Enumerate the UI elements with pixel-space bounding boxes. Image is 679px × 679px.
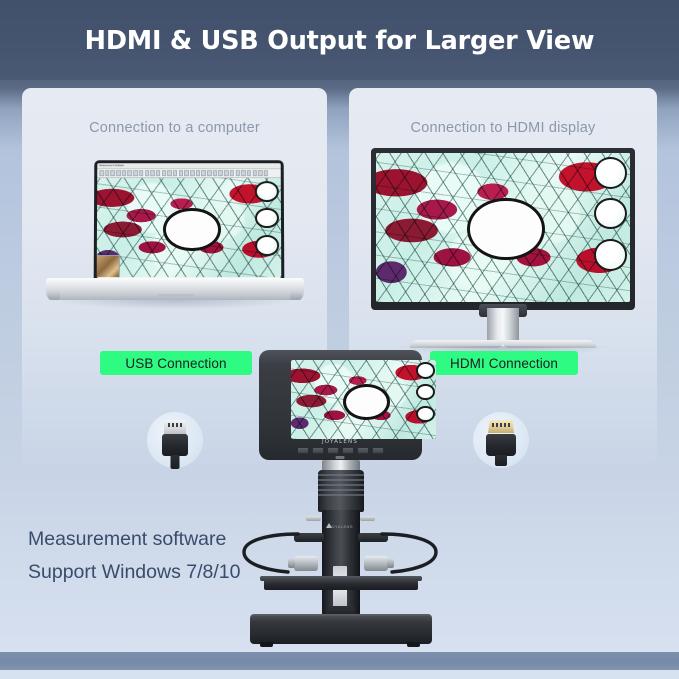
toolbar-button[interactable] xyxy=(162,170,166,175)
microscope-control-button[interactable] xyxy=(297,447,309,454)
toolbar-button[interactable] xyxy=(264,170,269,175)
toolbar-button[interactable] xyxy=(133,170,138,175)
laptop-shadow xyxy=(56,300,294,309)
toolbar-button[interactable] xyxy=(235,170,240,175)
software-window-title: Measurement Software xyxy=(99,164,124,167)
microscope-control-button[interactable] xyxy=(372,447,384,454)
barrel-ring xyxy=(318,479,364,481)
microscope-barrel-rings xyxy=(318,474,364,508)
cell-vesicle xyxy=(416,406,435,423)
footer-text-block: Measurement software Support Windows 7/8… xyxy=(28,523,328,589)
panel-computer-title: Connection to a computer xyxy=(22,120,327,136)
header-banner: HDMI & USB Output for Larger View xyxy=(0,0,679,80)
microscope-brand-label: JOYALENS xyxy=(236,439,444,445)
microscope-screen xyxy=(291,360,436,439)
toolbar-button[interactable] xyxy=(111,170,116,175)
panel-hdmi-title: Connection to HDMI display xyxy=(349,120,657,136)
toolbar-button[interactable] xyxy=(122,170,127,175)
usb-plug-body xyxy=(162,434,188,456)
laptop-foot xyxy=(290,290,302,300)
toolbar-button[interactable] xyxy=(252,170,257,175)
usb-pin xyxy=(176,423,178,427)
toolbar-button[interactable] xyxy=(241,170,246,175)
usb-pin xyxy=(172,423,174,427)
badge-usb-connection: USB Connection xyxy=(100,351,252,375)
toolbar-button[interactable] xyxy=(213,170,217,175)
toolbar-button[interactable] xyxy=(173,170,177,175)
toolbar-button[interactable] xyxy=(156,170,160,175)
cell-vesicle xyxy=(594,157,627,188)
toolbar-button[interactable] xyxy=(196,170,200,175)
barrel-ring xyxy=(318,484,364,486)
toolbar-button[interactable] xyxy=(128,170,133,175)
hdmi-pin xyxy=(508,423,510,427)
hdmi-pin xyxy=(492,423,494,427)
laptop-trackpad-notch xyxy=(158,294,194,297)
toolbar-button[interactable] xyxy=(258,170,263,175)
cell-vesicle xyxy=(416,384,435,401)
cell-vesicle xyxy=(594,239,627,270)
infographic-root: HDMI & USB Output for Larger View Connec… xyxy=(0,0,679,679)
microscope-illustration: JOYALENS JOYALENS xyxy=(236,348,444,648)
ground-base xyxy=(0,670,679,679)
toolbar-button[interactable] xyxy=(230,170,235,175)
badge-usb-label: USB Connection xyxy=(125,356,226,371)
badge-hdmi-label: HDMI Connection xyxy=(450,356,558,371)
toolbar-button[interactable] xyxy=(116,170,121,175)
footer-line-1: Measurement software xyxy=(28,523,328,556)
microscope-control-button[interactable] xyxy=(357,447,369,454)
microscope-focus-knob[interactable] xyxy=(360,516,375,521)
hdmi-plug-cable xyxy=(495,455,507,466)
hdmi-plug-body xyxy=(486,434,516,456)
cell-vesicle xyxy=(594,198,627,229)
toolbar-button[interactable] xyxy=(105,170,110,175)
toolbar-button[interactable] xyxy=(139,170,144,175)
barrel-ring xyxy=(318,474,364,476)
toolbar-button[interactable] xyxy=(190,170,194,175)
software-thumbnail-panel[interactable] xyxy=(97,255,120,277)
software-canvas xyxy=(97,178,282,277)
toolbar-button[interactable] xyxy=(99,170,104,175)
toolbar-button[interactable] xyxy=(145,170,150,175)
microscope-led-lamp xyxy=(364,556,388,571)
page-title: HDMI & USB Output for Larger View xyxy=(0,26,679,56)
laptop-lid: Measurement Software xyxy=(94,160,285,282)
hdmi-pin xyxy=(496,423,498,427)
cell-vesicle xyxy=(255,235,279,256)
hdmi-pin xyxy=(504,423,506,427)
usb-pin xyxy=(168,423,170,427)
toolbar-button[interactable] xyxy=(150,170,154,175)
laptop-foot xyxy=(48,290,60,300)
toolbar-button[interactable] xyxy=(179,170,183,175)
hdmi-connector-icon xyxy=(473,412,529,468)
cell-vesicle xyxy=(255,181,279,202)
micrograph-image xyxy=(376,153,630,302)
ground-band xyxy=(0,652,679,670)
microscope-control-button[interactable] xyxy=(327,447,339,454)
microscope-control-button[interactable] xyxy=(312,447,324,454)
monitor-screen xyxy=(376,153,630,302)
toolbar-button[interactable] xyxy=(224,170,228,175)
microscope-led-indicator xyxy=(336,456,345,459)
hdmi-plug-pins xyxy=(492,423,510,427)
footer-line-2: Support Windows 7/8/10 xyxy=(28,556,328,589)
software-toolbar xyxy=(97,169,281,178)
toolbar-button[interactable] xyxy=(201,170,205,175)
usb-plug-pins xyxy=(168,423,182,427)
barrel-ring xyxy=(318,494,364,496)
laptop-screen: Measurement Software xyxy=(97,163,282,278)
hdmi-pin xyxy=(500,423,502,427)
micrograph-image xyxy=(97,178,282,277)
monitor-bezel xyxy=(371,148,635,310)
microscope-button-row xyxy=(236,447,444,454)
microscope-focus-knob[interactable] xyxy=(306,516,321,521)
toolbar-button[interactable] xyxy=(207,170,211,175)
toolbar-button[interactable] xyxy=(218,170,222,175)
barrel-ring xyxy=(318,489,364,491)
toolbar-button[interactable] xyxy=(167,170,171,175)
micrograph-image xyxy=(291,360,436,439)
microscope-foot xyxy=(260,642,273,647)
badge-hdmi-connection: HDMI Connection xyxy=(430,351,578,375)
cell-vesicle xyxy=(255,208,279,229)
toolbar-button[interactable] xyxy=(247,170,252,175)
microscope-foot xyxy=(407,642,420,647)
usb-plug-cable xyxy=(171,455,180,469)
cell-vesicle xyxy=(416,362,435,379)
toolbar-button[interactable] xyxy=(184,170,188,175)
usb-pin xyxy=(180,423,182,427)
microscope-base xyxy=(250,616,432,644)
microscope-control-button[interactable] xyxy=(342,447,354,454)
usb-connector-icon xyxy=(147,412,203,468)
